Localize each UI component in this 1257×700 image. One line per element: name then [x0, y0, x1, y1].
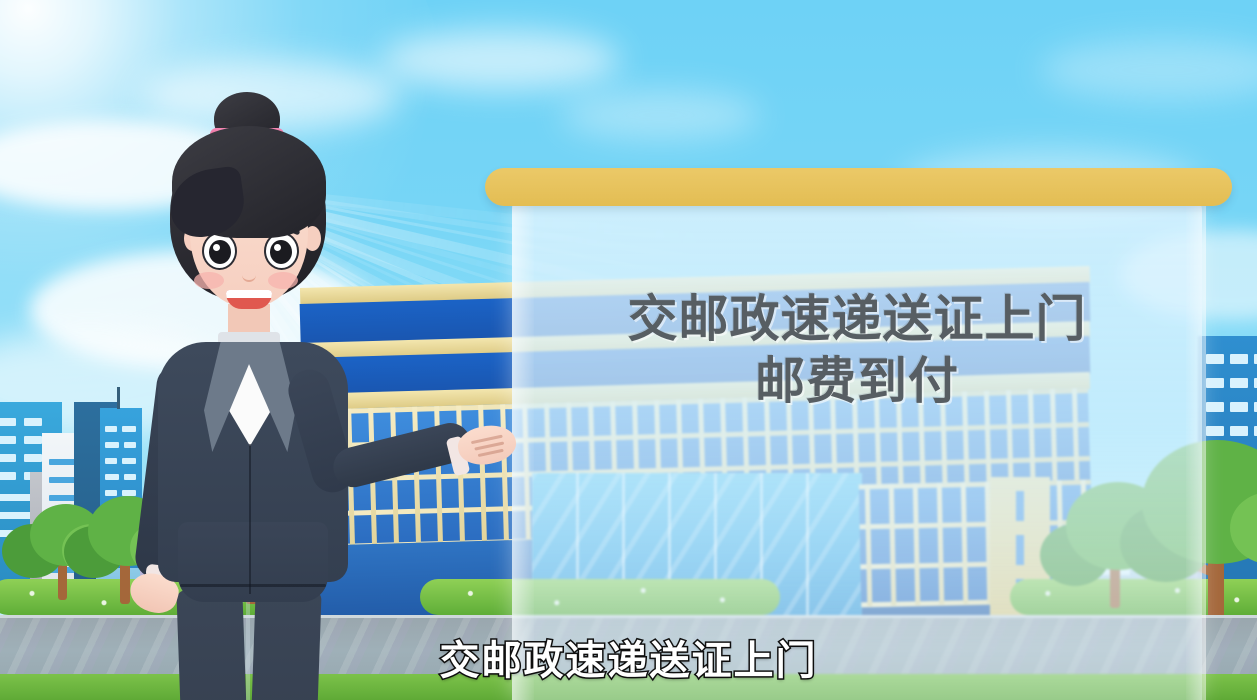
jacket-button-line	[249, 444, 251, 594]
torso-waist	[178, 522, 328, 602]
cloud	[380, 30, 620, 90]
eye-glint-left	[213, 244, 220, 251]
video-frame: 交邮政速递送证上门 邮费到付	[0, 0, 1257, 700]
cloud	[560, 90, 760, 140]
pupil-left	[209, 240, 231, 264]
mouth	[226, 290, 272, 309]
cheek-right	[268, 272, 298, 289]
belt-line	[180, 584, 326, 587]
cheek-left	[194, 272, 224, 289]
info-panel	[512, 196, 1202, 700]
video-subtitle: 交邮政速递送证上门	[0, 637, 1257, 685]
gold-header-bar	[485, 168, 1232, 206]
eye-glint-right	[274, 244, 281, 251]
pupil-right	[270, 240, 292, 264]
presenter-character	[118, 92, 418, 700]
info-panel-right-edge	[1186, 196, 1206, 700]
